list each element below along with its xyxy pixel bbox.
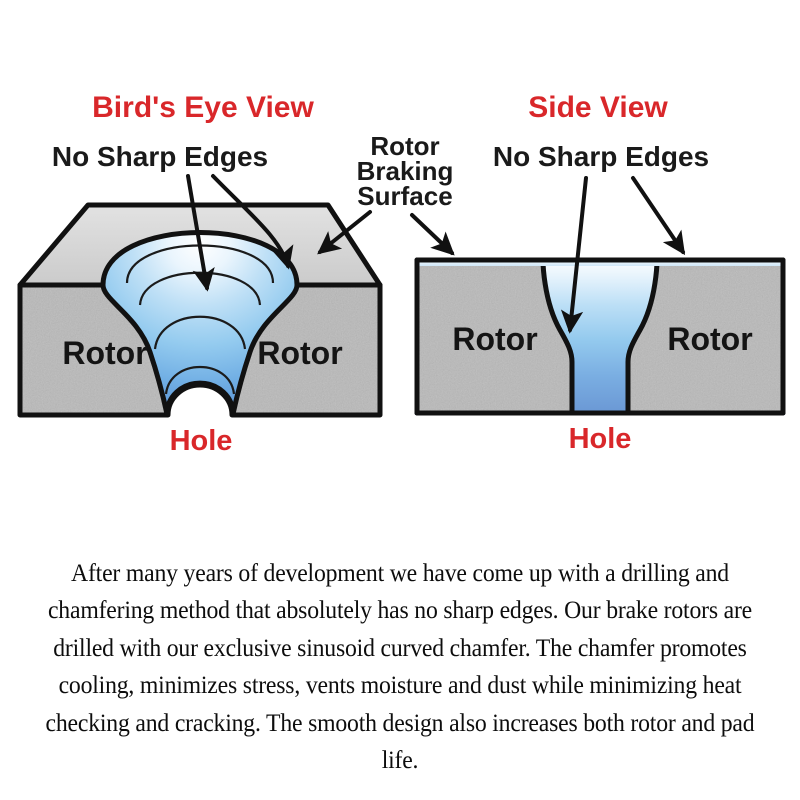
left-hole-label: Hole: [170, 425, 233, 457]
right-view-title: Side View: [528, 91, 668, 124]
right-rotor-label-left: Rotor: [452, 321, 537, 357]
right-hole-label: Hole: [569, 423, 632, 455]
right-rotor-label-right: Rotor: [667, 321, 752, 357]
arrow-right-no-sharp-edges-right: [633, 178, 683, 252]
braking-surface-label-line3: Surface: [357, 181, 452, 211]
body-paragraph: After many years of development we have …: [35, 554, 764, 779]
diagram-page: Bird's Eye View Side View No Sharp Edges…: [0, 0, 800, 800]
left-rotor-label-right: Rotor: [257, 335, 342, 371]
right-no-sharp-edges-label: No Sharp Edges: [493, 141, 709, 172]
left-view-title: Bird's Eye View: [92, 91, 314, 124]
left-no-sharp-edges-label: No Sharp Edges: [52, 141, 268, 172]
right-diagram-side-view: Rotor Rotor Hole: [415, 258, 785, 455]
arrow-braking-surface-to-right-block: [412, 215, 452, 253]
left-rotor-label-left: Rotor: [62, 335, 147, 371]
